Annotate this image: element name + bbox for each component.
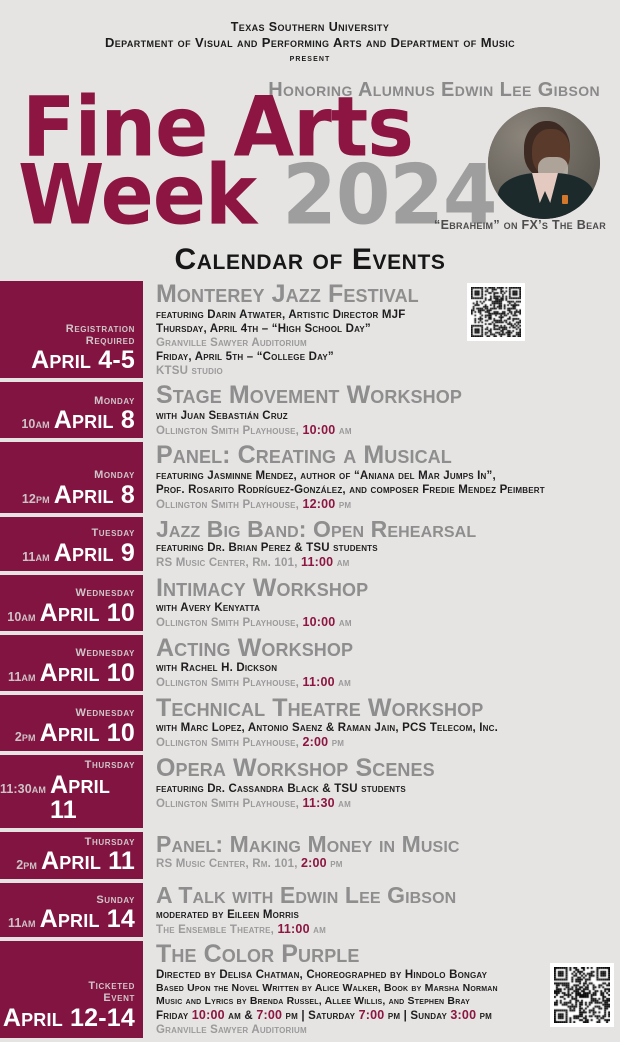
event-date-line: 12pmApril 8 [22,483,135,508]
portrait-lapel-pin [562,195,568,204]
event-detail: moderated by Eileen Morris [156,908,620,922]
event-venue-time: 2:00 [302,735,328,749]
event-date-line: 10amApril 10 [7,601,135,626]
edwin-lee-gibson-portrait [488,107,600,219]
event-date: April 11 [50,773,135,823]
event-detail: with Rachel H. Dickson [156,661,620,675]
event-title: Technical Theatre Workshop [156,696,620,722]
event-info: Technical Theatre Workshopwith Marc Lope… [143,695,620,751]
university-name: Texas Southern University [0,19,620,35]
event-detail: Friday, April 5th – “College Day” [156,350,620,364]
event-row: Wednesday10amApril 10Intimacy Workshopwi… [0,575,620,631]
event-time: 10am [21,418,49,431]
event-date-line: 2pmApril 11 [16,849,135,874]
event-date-line: 11amApril 14 [8,907,135,932]
event-info: A Talk with Edwin Lee Gibsonmoderated by… [143,883,620,937]
event-day-of-week: Thursday [85,759,135,772]
event-date-block: RegistrationRequiredApril 4-5 [0,281,143,378]
event-date-block: Tuesday11amApril 9 [0,517,143,571]
event-venue-time: 10:00 [302,615,335,629]
event-date-block: Monday10amApril 8 [0,382,143,438]
event-time: 2pm [15,731,36,744]
event-venue: Ollington Smith Playhouse, 11:00 am [156,675,620,691]
event-venue-time: 11:30 [302,796,334,810]
event-detail: Prof. Rosarito Rodríguez-González, and c… [156,483,620,497]
event-detail: with Juan Sebastián Cruz [156,409,620,423]
event-time: 10am [7,611,35,624]
event-venue: The Ensemble Theatre, 11:00 am [156,922,620,938]
event-day-of-week: Registration [66,323,135,335]
event-title: A Talk with Edwin Lee Gibson [156,884,620,907]
event-venue: Ollington Smith Playhouse, 11:30 am [156,796,620,812]
event-title: Panel: Making Money in Music [156,833,620,856]
event-date-line: 11amApril 10 [8,661,135,686]
event-row: Sunday11amApril 14A Talk with Edwin Lee … [0,883,620,937]
calendar-heading: Calendar of Events [0,243,620,277]
event-venue: Granville Sawyer Auditorium [156,336,620,350]
event-date-block: Wednesday11amApril 10 [0,635,143,691]
event-day-of-week: Tuesday [91,527,135,540]
event-day-of-week: Ticketed [88,980,135,992]
event-date: April 10 [40,601,135,626]
event-date: April 10 [40,721,135,746]
event-row: Wednesday11amApril 10Acting Workshopwith… [0,635,620,691]
event-detail: with Marc Lopez, Antonio Saenz & Raman J… [156,721,620,735]
event-venue: Ollington Smith Playhouse, 10:00 am [156,615,620,631]
event-date-block: Sunday11amApril 14 [0,883,143,937]
event-row: Thursday11:30amApril 11Opera Workshop Sc… [0,755,620,828]
event-date: April 8 [54,483,135,508]
event-date-line: 2pmApril 10 [15,721,135,746]
event-title: Monterey Jazz Festival [156,282,620,308]
title-week: Week [18,147,256,243]
event-date-block: Wednesday2pmApril 10 [0,695,143,751]
event-info: Panel: Making Money in MusicRS Music Cen… [143,832,620,880]
event-info: Jazz Big Band: Open Rehearsalfeaturing D… [143,517,620,571]
event-info: Monterey Jazz Festivalfeaturing Darin At… [143,281,620,378]
event-title: Jazz Big Band: Open Rehearsal [156,518,620,541]
event-venue: Ollington Smith Playhouse, 2:00 pm [156,735,620,751]
event-info: Intimacy Workshopwith Avery KenyattaOlli… [143,575,620,631]
event-date-block: TicketedEventApril 12-14 [0,941,143,1037]
poster-title: Fine Arts Week 2024 [18,100,488,230]
showtime-value: 7:00 [256,1008,282,1022]
event-row: Wednesday2pmApril 10Technical Theatre Wo… [0,695,620,751]
event-venue-time: 11:00 [277,922,309,936]
event-date: April 14 [40,907,135,932]
qr-code[interactable] [550,963,614,1027]
event-time: 11am [8,671,36,684]
event-title: Stage Movement Workshop [156,383,620,409]
poster-header: Texas Southern University Department of … [0,0,620,65]
event-title: Intimacy Workshop [156,576,620,602]
event-date-line: 10amApril 8 [21,408,135,433]
event-row: Tuesday11amApril 9Jazz Big Band: Open Re… [0,517,620,571]
event-date-block: Thursday2pmApril 11 [0,832,143,880]
event-info: Panel: Creating a Musicalfeaturing Jasmi… [143,442,620,512]
title-line-2: Week 2024 [18,161,496,231]
portrait-caption: “Ebraheim” on FX’s The Bear [434,218,606,232]
showtime-value: 3:00 [450,1008,476,1022]
event-venue-time: 11:00 [302,675,334,689]
present-label: present [0,52,620,65]
event-date: April 10 [40,661,135,686]
event-detail: featuring Dr. Brian Perez & TSU students [156,541,620,555]
event-date: April 9 [54,541,135,566]
event-time: 11am [22,551,50,564]
event-date-block: Wednesday10amApril 10 [0,575,143,631]
event-detail: featuring Darin Atwater, Artistic Direct… [156,308,620,322]
event-time: 12pm [22,493,50,506]
event-day-of-week: Event [103,992,135,1004]
event-info: The Color PurpleDirected by Delisa Chatm… [143,941,620,1037]
event-title: Acting Workshop [156,636,620,662]
event-date-line: April 4-5 [31,348,135,373]
event-date: April 4-5 [31,348,135,373]
event-row: RegistrationRequiredApril 4-5Monterey Ja… [0,281,620,378]
event-date-line: 11:30amApril 11 [0,773,135,823]
event-day-of-week: Monday [94,469,135,482]
events-list: RegistrationRequiredApril 4-5Monterey Ja… [0,281,620,1042]
event-venue: Ollington Smith Playhouse, 10:00 am [156,423,620,439]
event-venue-time: 11:00 [301,555,333,569]
event-info: Acting Workshopwith Rachel H. DicksonOll… [143,635,620,691]
showtime-value: 10:00 [192,1008,225,1022]
event-time: 11am [8,917,36,930]
event-venue-time: 2:00 [301,856,327,870]
event-venue-time: 10:00 [302,423,335,437]
event-time: 2pm [16,859,37,872]
event-date-block: Thursday11:30amApril 11 [0,755,143,828]
event-title: Opera Workshop Scenes [156,756,620,782]
event-date-block: Monday12pmApril 8 [0,442,143,512]
event-detail: featuring Dr. Cassandra Black & TSU stud… [156,782,620,796]
event-venue-time: 12:00 [302,497,335,511]
event-venue: RS Music Center, Rm. 101, 11:00 am [156,555,620,571]
event-date-line: April 12-14 [3,1006,135,1031]
event-detail: featuring Jasminne Mendez, author of “An… [156,469,620,483]
event-title: Panel: Creating a Musical [156,443,620,469]
event-day-of-week: Wednesday [75,587,135,600]
event-detail: with Avery Kenyatta [156,601,620,615]
event-row: Monday12pmApril 8Panel: Creating a Music… [0,442,620,512]
event-date-line: 11amApril 9 [22,541,135,566]
event-date: April 12-14 [3,1006,135,1031]
event-date: April 11 [41,849,135,874]
event-detail: Thursday, April 4th – “High School Day” [156,322,620,336]
qr-code[interactable] [467,283,525,341]
showtime-value: 7:00 [359,1008,385,1022]
poster-root: Texas Southern University Department of … [0,0,620,958]
event-date: April 8 [54,408,135,433]
event-row: TicketedEventApril 12-14The Color Purple… [0,941,620,1037]
event-venue: RS Music Center, Rm. 101, 2:00 pm [156,856,620,872]
event-time: 11:30am [0,783,46,796]
event-venue: Ollington Smith Playhouse, 12:00 pm [156,497,620,513]
department-name: Department of Visual and Performing Arts… [0,35,620,52]
event-row: Monday10amApril 8Stage Movement Workshop… [0,382,620,438]
event-row: Thursday2pmApril 11Panel: Making Money i… [0,832,620,880]
event-venue: KTSU studio [156,364,620,378]
event-info: Opera Workshop Scenesfeaturing Dr. Cassa… [143,755,620,828]
event-info: Stage Movement Workshopwith Juan Sebasti… [143,382,620,438]
